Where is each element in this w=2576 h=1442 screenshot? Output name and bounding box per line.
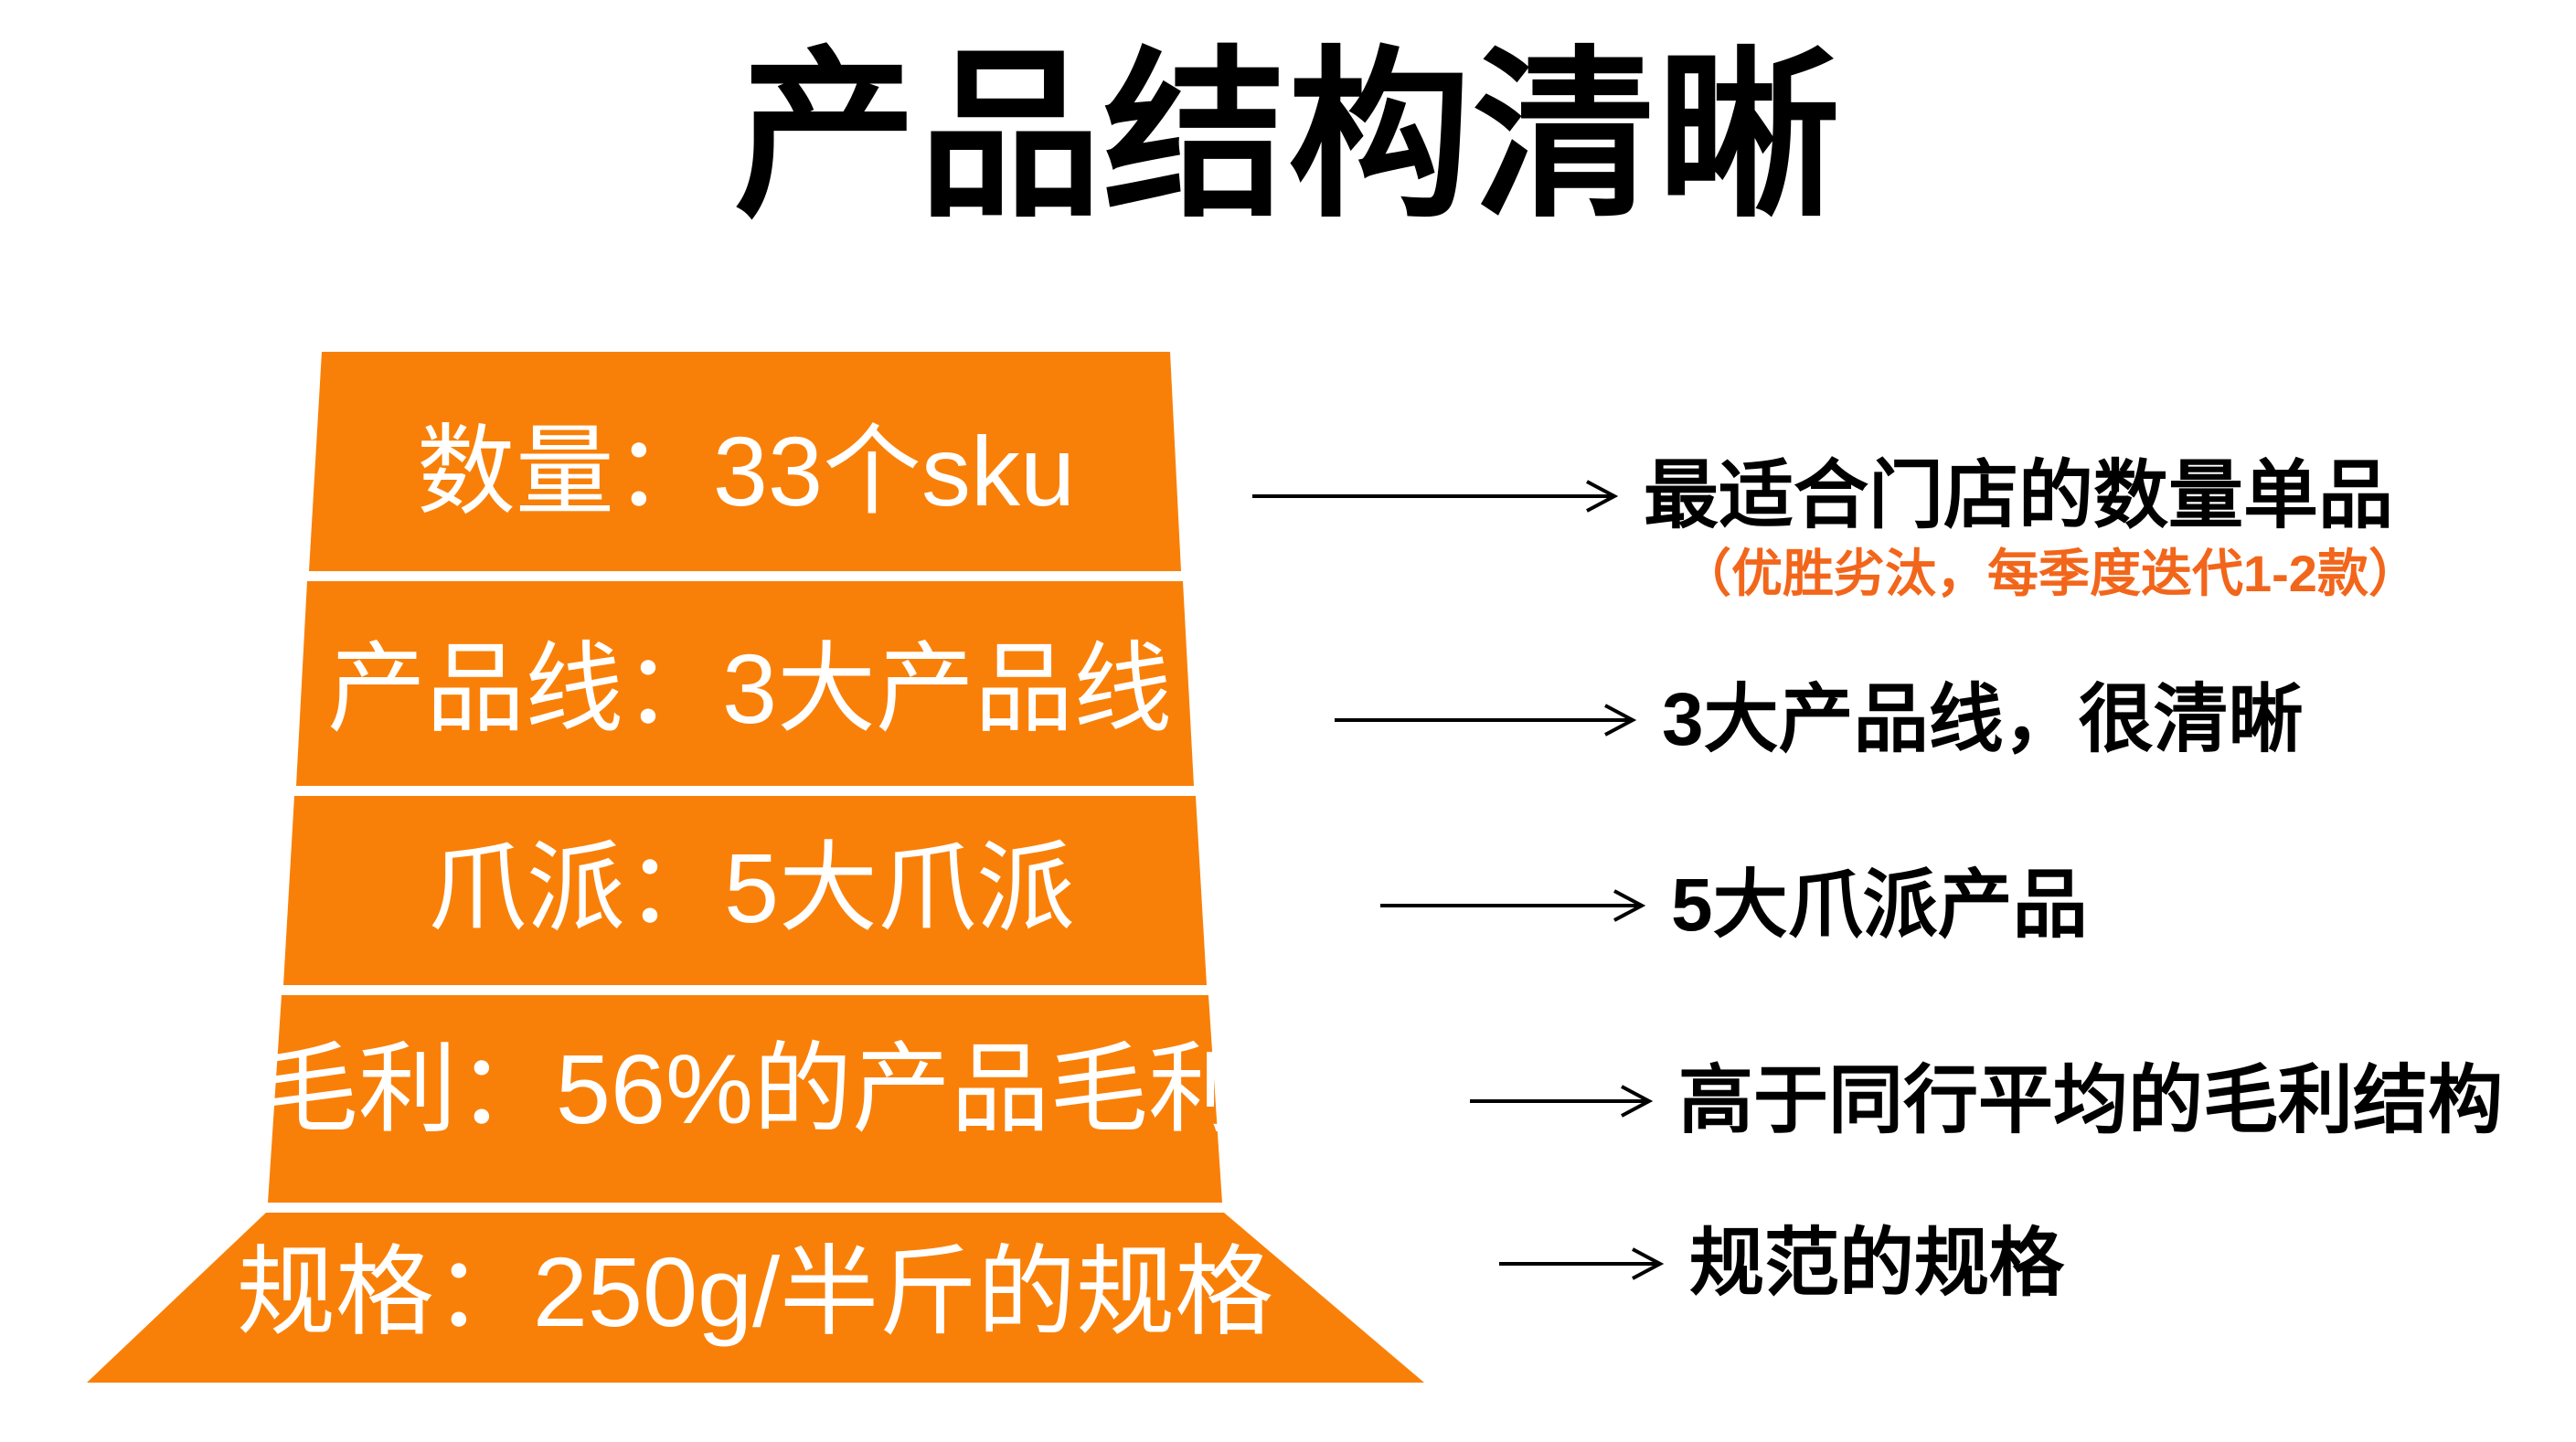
right-arrow-icon xyxy=(1499,1246,1664,1282)
callout-spec: 规范的规格 xyxy=(1499,1225,2064,1303)
pyramid-row-label-claw-style: 爪派：5大爪派 xyxy=(230,839,1272,938)
product-structure-pyramid: 数量：33个sku 产品线：3大产品线 爪派：5大爪派 毛利：56%的产品毛利 … xyxy=(0,0,1554,1442)
callout-product-line: 3大产品线，很清晰 xyxy=(1335,681,2304,759)
callout-label-quantity: 最适合门店的数量单品 xyxy=(1644,457,2393,535)
callout-label-product-line: 3大产品线，很清晰 xyxy=(1662,681,2304,759)
callout-gross-margin: 高于同行平均的毛利结构 xyxy=(1470,1062,2503,1140)
pyramid-row-label-spec: 规格：250g/半斤的规格 xyxy=(137,1243,1373,1341)
callout-label-spec: 规范的规格 xyxy=(1689,1225,2064,1303)
callout-label-claw-style: 5大爪派产品 xyxy=(1671,866,2088,945)
callout-claw-style: 5大爪派产品 xyxy=(1380,866,2088,945)
callout-subtext-quantity: （优胜劣汰，每季度迭代1-2款） xyxy=(1680,548,2420,599)
right-arrow-icon xyxy=(1380,887,1645,924)
right-arrow-icon xyxy=(1252,478,1618,514)
right-arrow-icon xyxy=(1335,702,1636,738)
callout-label-gross-margin: 高于同行平均的毛利结构 xyxy=(1678,1062,2503,1140)
pyramid-row-label-product-line: 产品线：3大产品线 xyxy=(274,640,1225,738)
callout-quantity: 最适合门店的数量单品 xyxy=(1252,457,2393,535)
right-arrow-icon xyxy=(1470,1083,1653,1119)
pyramid-row-label-gross-margin: 毛利：56%的产品毛利 xyxy=(183,1040,1324,1139)
pyramid-row-label-quantity: 数量：33个sku xyxy=(322,422,1170,521)
